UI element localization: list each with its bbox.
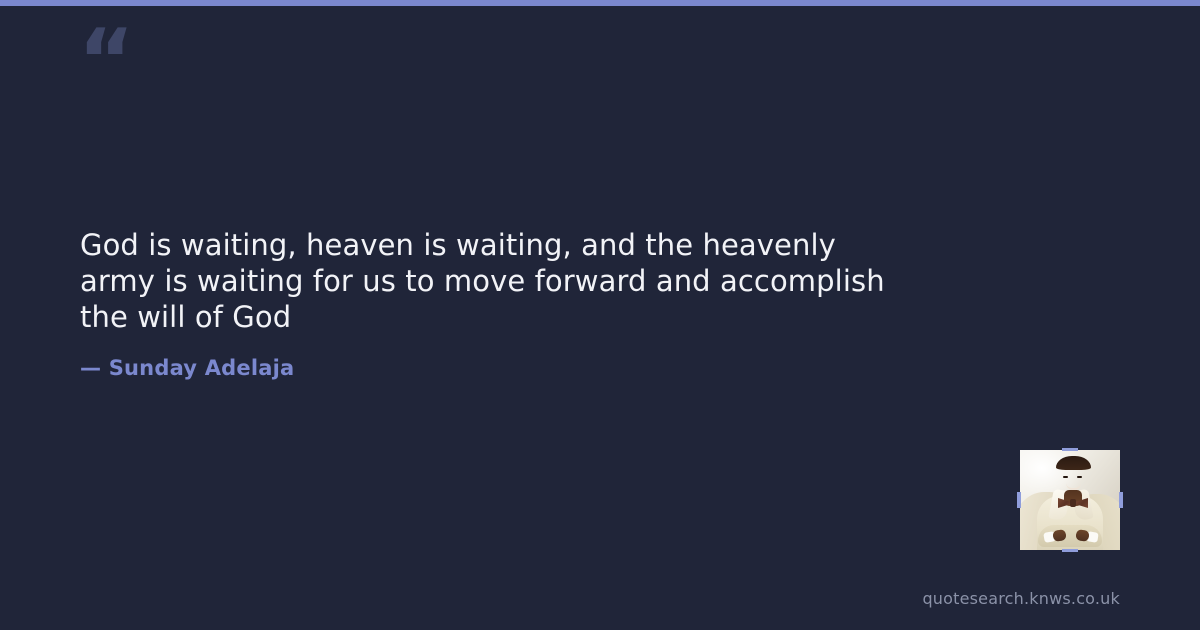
photo-bow-tie (1058, 497, 1088, 509)
quote-card: “ God is waiting, heaven is waiting, and… (0, 0, 1200, 630)
photo-eye-right (1077, 476, 1082, 478)
quote-line-1: God is waiting, heaven is waiting, and t… (80, 227, 980, 263)
photo-bow-tie-knot (1070, 499, 1076, 507)
author-photo-container[interactable] (1020, 450, 1120, 550)
resize-handle-bottom[interactable] (1062, 549, 1078, 552)
top-accent-bar (0, 0, 1200, 6)
author-photo[interactable] (1020, 450, 1120, 550)
quotation-mark-icon: “ (78, 18, 133, 104)
resize-handle-top[interactable] (1062, 448, 1078, 451)
quote-line-3: the will of God (80, 299, 980, 335)
quote-attribution: — Sunday Adelaja (80, 356, 294, 380)
photo-hair (1056, 456, 1091, 470)
photo-eye-left (1063, 476, 1068, 478)
quote-line-2: army is waiting for us to move forward a… (80, 263, 980, 299)
resize-handle-left[interactable] (1017, 492, 1021, 508)
source-watermark: quotesearch.knws.co.uk (922, 589, 1120, 608)
quote-text-block: God is waiting, heaven is waiting, and t… (80, 227, 980, 335)
resize-handle-right[interactable] (1119, 492, 1123, 508)
